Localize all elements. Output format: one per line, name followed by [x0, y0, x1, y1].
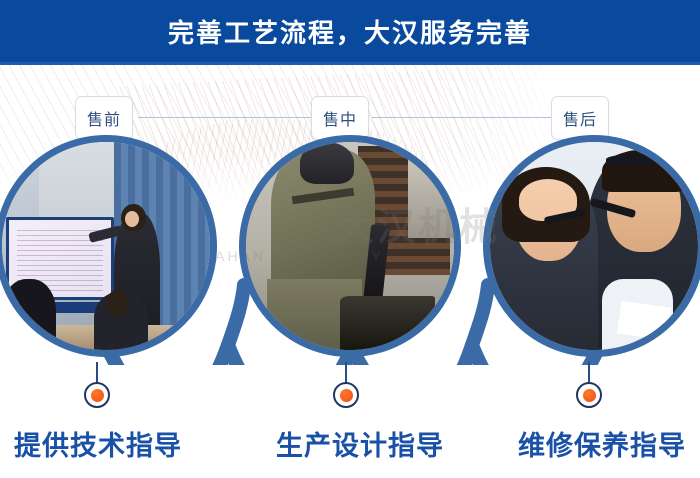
header-underline [0, 62, 700, 65]
node-dot-inner [91, 389, 104, 402]
page-title: 完善工艺流程，大汉服务完善 [168, 13, 532, 50]
photo-presale-image [2, 142, 210, 350]
stage-label-presale: 售前 [75, 96, 133, 140]
stage-label-text: 售后 [563, 106, 597, 130]
caption-insale: 生产设计指导 [276, 424, 444, 463]
node-stem-3 [588, 362, 590, 384]
stage-connector-line-2 [372, 117, 552, 118]
caption-presale: 提供技术指导 [14, 424, 182, 463]
node-dot-inner [583, 389, 596, 402]
photo-circle-aftersale [483, 135, 700, 357]
stage-label-insale: 售中 [311, 96, 369, 140]
node-stem-1 [96, 362, 98, 384]
node-stem-2 [345, 362, 347, 384]
node-marker-3 [576, 382, 602, 408]
stage-label-text: 售前 [87, 106, 121, 130]
promo-banner: 完善工艺流程，大汉服务完善 售前 售中 售后 [0, 0, 700, 478]
stage-label-aftersale: 售后 [551, 96, 609, 140]
photo-circle-insale [239, 135, 461, 357]
caption-aftersale: 维修保养指导 [518, 424, 686, 463]
stage-label-text: 售中 [323, 106, 357, 130]
photo-insale-image [246, 142, 454, 350]
node-marker-2 [333, 382, 359, 408]
node-marker-1 [84, 382, 110, 408]
photo-aftersale-image [490, 142, 698, 350]
photo-circle-presale [0, 135, 217, 357]
stage-connector-line-1 [138, 117, 318, 118]
banner-header: 完善工艺流程，大汉服务完善 [0, 0, 700, 62]
photo-circle-row [0, 135, 700, 365]
node-dot-inner [340, 389, 353, 402]
